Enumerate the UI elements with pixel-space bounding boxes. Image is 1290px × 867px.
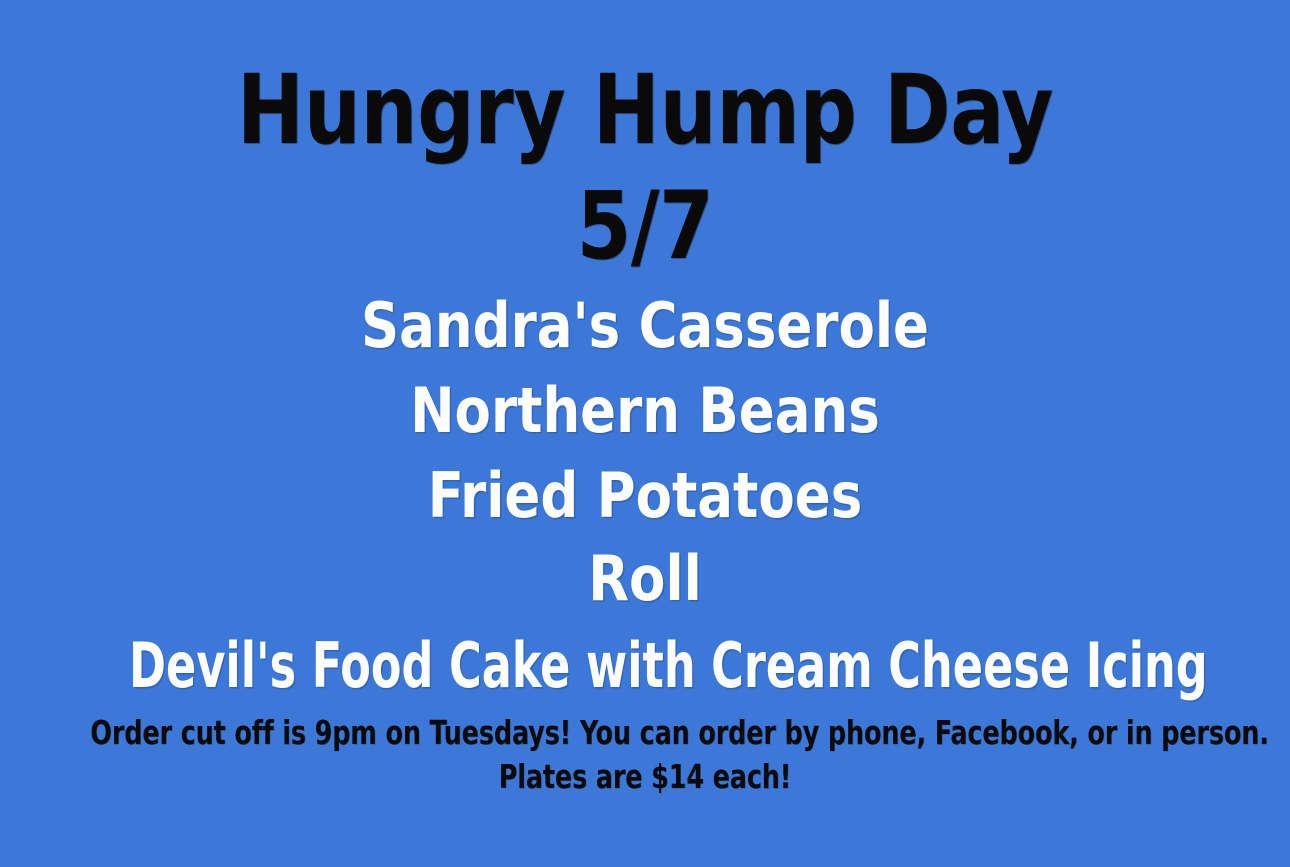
menu-poster: Hungry Hump Day 5/7 Sandra's Casserole N…: [0, 0, 1290, 867]
menu-item: Northern Beans: [32, 380, 1258, 442]
menu-item: Roll: [32, 548, 1258, 610]
price-note: Plates are $14 each!: [90, 760, 1199, 793]
menu-item: Sandra's Casserole: [32, 295, 1258, 357]
poster-title: Hungry Hump Day: [45, 62, 1245, 158]
menu-item: Fried Potatoes: [32, 465, 1258, 527]
poster-date: 5/7: [45, 180, 1245, 274]
menu-item: Devil's Food Cake with Cream Cheese Icin…: [129, 635, 1161, 697]
order-instructions-note: Order cut off is 9pm on Tuesdays! You ca…: [90, 716, 1199, 749]
